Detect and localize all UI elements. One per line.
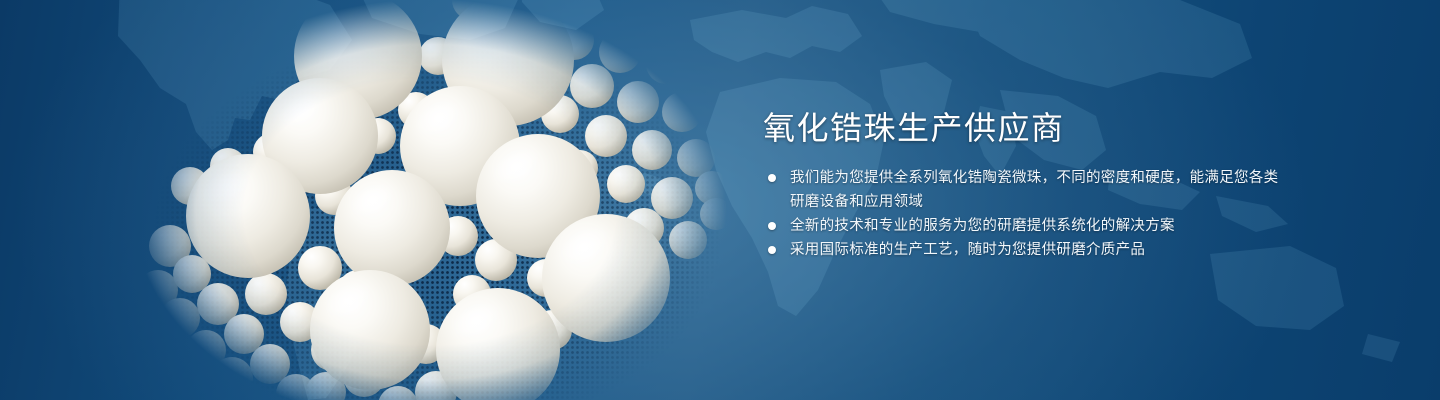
list-item-label: 采用国际标准的生产工艺，随时为您提供研磨介质产品 (790, 238, 1283, 262)
list-item-label: 全新的技术和专业的服务为您的研磨提供系统化的解决方案 (790, 214, 1283, 238)
halftone-dot-texture (105, 0, 745, 400)
list-item: 全新的技术和专业的服务为您的研磨提供系统化的解决方案 (763, 214, 1283, 238)
list-item: 采用国际标准的生产工艺，随时为您提供研磨介质产品 (763, 238, 1283, 262)
list-item-label: 我们能为您提供全系列氧化锆陶瓷微珠，不同的密度和硬度，能满足您各类研磨设备和应用… (790, 166, 1283, 214)
page-title: 氧化锆珠生产供应商 (763, 108, 1283, 148)
bullet-dot-icon (768, 222, 776, 230)
zirconia-ceramic-beads-photo (120, 0, 740, 400)
list-item: 我们能为您提供全系列氧化锆陶瓷微珠，不同的密度和硬度，能满足您各类研磨设备和应用… (763, 166, 1283, 214)
feature-list: 我们能为您提供全系列氧化锆陶瓷微珠，不同的密度和硬度，能满足您各类研磨设备和应用… (763, 166, 1283, 262)
bullet-dot-icon (768, 174, 776, 182)
bullet-dot-icon (768, 246, 776, 254)
hero-banner: 氧化锆珠生产供应商 我们能为您提供全系列氧化锆陶瓷微珠，不同的密度和硬度，能满足… (0, 0, 1440, 400)
banner-copy: 氧化锆珠生产供应商 我们能为您提供全系列氧化锆陶瓷微珠，不同的密度和硬度，能满足… (763, 108, 1283, 262)
